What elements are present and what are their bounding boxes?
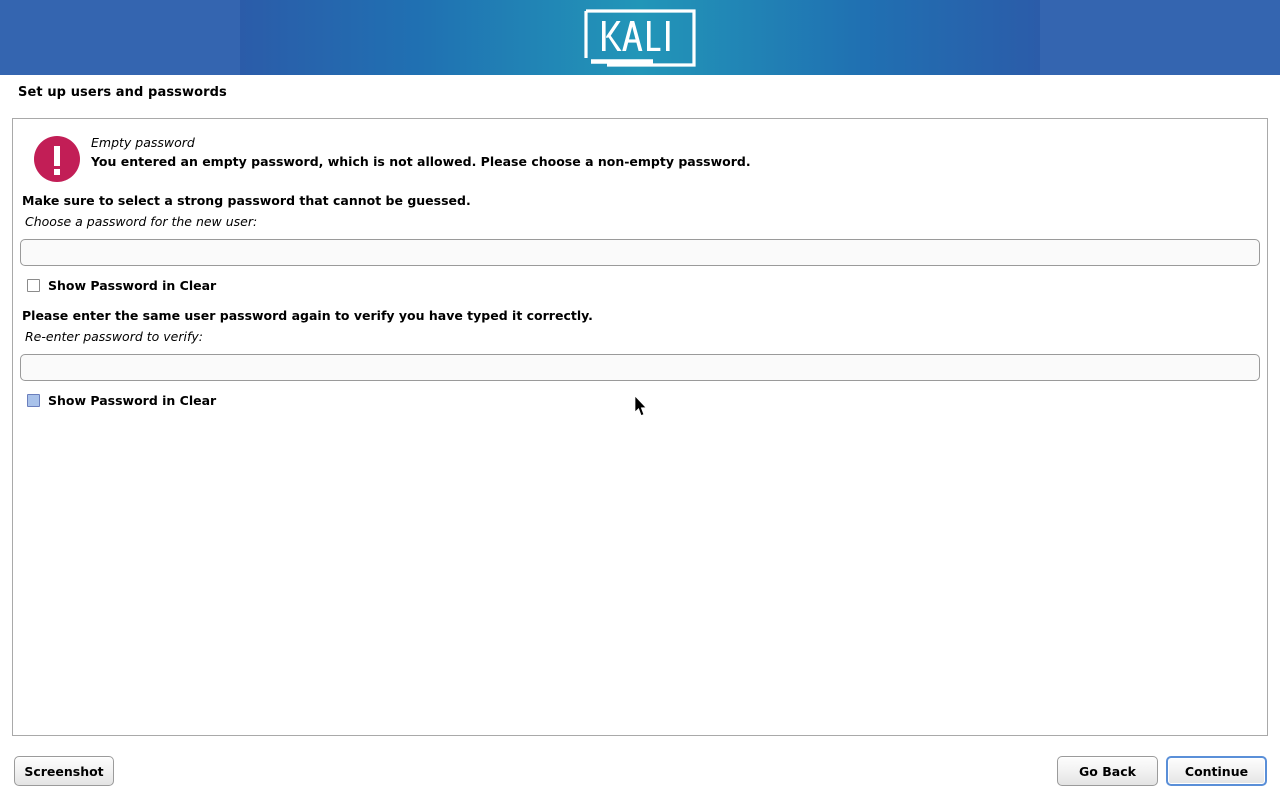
show-password-in-clear-checkbox-2[interactable]: Show Password in Clear [27,391,216,409]
error-title: Empty password [91,135,195,150]
verify-password-input[interactable] [20,354,1260,381]
verify-instruction: Please enter the same user password agai… [22,308,593,323]
error-exclamation-icon [34,136,80,182]
screenshot-button[interactable]: Screenshot [14,756,114,786]
exclamation-stem [54,146,60,166]
installer-content-frame: Empty password You entered an empty pass… [12,118,1268,736]
installer-banner [0,0,1280,75]
error-note: Empty password You entered an empty pass… [22,127,1252,187]
checkbox-label: Show Password in Clear [48,393,216,408]
password-instruction: Make sure to select a strong password th… [22,193,471,208]
checkbox-box[interactable] [27,394,40,407]
go-back-button[interactable]: Go Back [1057,756,1158,786]
continue-button[interactable]: Continue [1166,756,1267,786]
password-input[interactable] [20,239,1260,266]
kali-logo-icon [583,8,697,68]
page-title: Set up users and passwords [18,85,227,100]
verify-field-label: Re-enter password to verify: [25,329,203,344]
show-password-in-clear-checkbox-1[interactable]: Show Password in Clear [27,276,216,294]
error-message: You entered an empty password, which is … [91,154,751,169]
checkbox-label: Show Password in Clear [48,278,216,293]
exclamation-dot [54,169,60,175]
checkbox-box[interactable] [27,279,40,292]
password-field-label: Choose a password for the new user: [25,214,257,229]
